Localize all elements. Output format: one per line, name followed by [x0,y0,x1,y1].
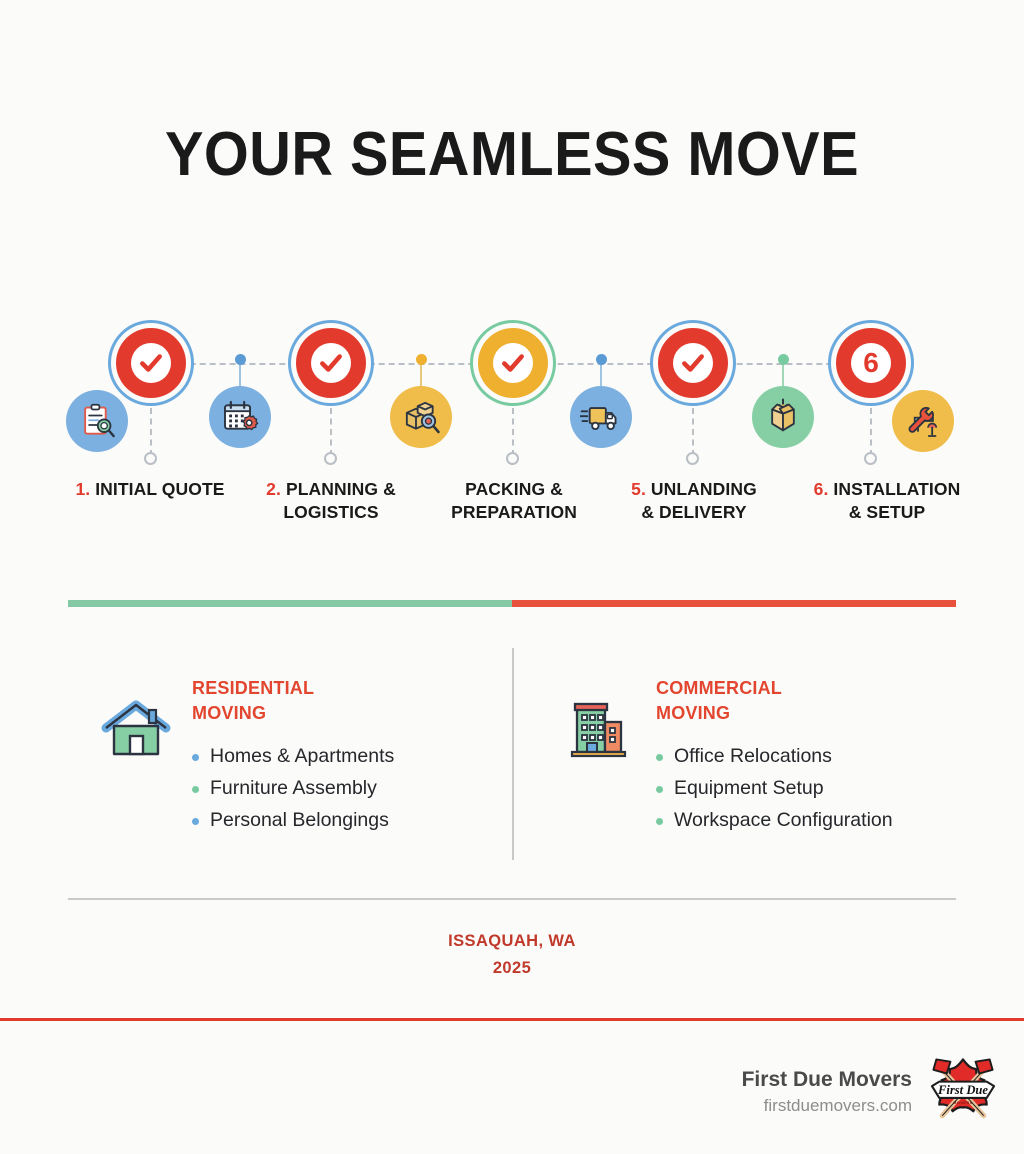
delivery-truck-icon [570,386,632,448]
bubble-5-dot [778,354,789,365]
clipboard-search-icon [66,390,128,452]
bubble-3-dot [416,354,427,365]
node-2-end-dot [324,452,337,465]
timeline-node-3[interactable] [470,300,556,386]
timeline-node-2[interactable] [288,300,374,386]
node-3-inner [493,343,533,383]
icon-bubble-clipboard-search[interactable] [66,390,128,452]
service-residential-list: Homes & Apartments Furniture Assembly Pe… [192,741,394,837]
node-5-end-dot [864,452,877,465]
list-item: Personal Belongings [192,805,394,837]
services-section: RESIDENTIAL MOVING Homes & Apartments Fu… [0,648,1024,878]
location-year: 2025 [493,959,531,977]
node-1-end-dot [144,452,157,465]
service-commercial: COMMERCIAL MOVING Office Relocations Equ… [560,676,980,837]
node-1-inner [131,343,171,383]
bubble-4-dot [596,354,607,365]
progress-segment-green [68,600,512,607]
infographic-page: YOUR SEAMLESS MOVE [0,0,1024,1154]
location-block: ISSAQUAH, WA 2025 [0,928,1024,981]
node-1-donut [116,328,186,398]
progress-segment-red [512,600,956,607]
service-commercial-body: COMMERCIAL MOVING Office Relocations Equ… [656,676,893,837]
node-5-number: 6 [863,349,879,377]
node-2-stem [330,408,332,456]
step-label-1-number: 1. [75,479,90,499]
footer-company-name: First Due Movers [742,1066,912,1094]
node-4-end-dot [686,452,699,465]
step-label-1-line1: INITIAL QUOTE [95,479,224,499]
step-label-3-line2: PREPARATION [451,502,577,522]
step-label-4-number: 5. [631,479,646,499]
step-label-4-line1: UNLANDING [651,479,757,499]
service-commercial-title-line2: MOVING [656,703,730,723]
list-item: Furniture Assembly [192,773,394,805]
page-title: YOUR SEAMLESS MOVE [36,124,988,186]
box-magnifier-icon [390,386,452,448]
step-label-5: 6. INSTALLATION & SETUP [778,478,996,525]
list-item: Homes & Apartments [192,741,394,773]
service-residential-title: RESIDENTIAL MOVING [192,676,394,726]
timeline-node-1[interactable] [108,300,194,386]
check-icon [318,350,344,376]
node-2-donut [296,328,366,398]
node-3-end-dot [506,452,519,465]
icon-bubble-delivery-truck[interactable] [570,386,632,448]
node-1-stem [150,408,152,456]
location-divider [68,898,956,900]
service-commercial-title-line1: COMMERCIAL [656,678,782,698]
footer: First Due Movers firstduemovers.com Firs… [742,1055,1000,1129]
node-5-inner: 6 [851,343,891,383]
open-box-icon [752,386,814,448]
services-divider [512,648,514,860]
service-residential-body: RESIDENTIAL MOVING Homes & Apartments Fu… [192,676,394,837]
step-label-2-number: 2. [266,479,281,499]
progress-bar [68,600,956,607]
svg-text:MOVERS: MOVERS [953,1101,973,1105]
step-label-4-line2: & DELIVERY [641,502,746,522]
bubble-2-dot [235,354,246,365]
timeline-node-5[interactable]: 6 [828,300,914,386]
wrench-desk-icon [892,390,954,452]
svg-text:First Due: First Due [937,1083,988,1097]
service-residential-title-line1: RESIDENTIAL [192,678,314,698]
list-item: Equipment Setup [656,773,893,805]
icon-bubble-calendar-gear[interactable] [209,386,271,448]
node-2-inner [311,343,351,383]
footer-text: First Due Movers firstduemovers.com [742,1066,912,1117]
step-label-2-line1: PLANNING & [286,479,396,499]
house-icon [96,676,176,756]
step-label-2-line2: LOGISTICS [283,502,378,522]
check-icon [500,350,526,376]
node-3-stem [512,408,514,456]
timeline-node-4[interactable] [650,300,736,386]
step-label-3-line1: PACKING & [465,479,563,499]
step-label-5-line2: & SETUP [849,502,926,522]
calendar-gear-icon [209,386,271,448]
step-label-3: PACKING & PREPARATION [408,478,620,525]
step-label-5-line1: INSTALLATION [833,479,960,499]
first-due-movers-logo: First Due MOVERS [926,1055,1000,1129]
node-4-donut [658,328,728,398]
office-building-icon [560,676,640,756]
icon-bubble-box-magnifier[interactable] [390,386,452,448]
node-4-stem [692,408,694,456]
service-residential-title-line2: MOVING [192,703,266,723]
location-city: ISSAQUAH, WA [448,932,576,950]
service-commercial-list: Office Relocations Equipment Setup Works… [656,741,893,837]
node-3-donut [478,328,548,398]
check-icon [138,350,164,376]
timeline-step-labels: 1. INITIAL QUOTE 2. PLANNING & LOGISTICS… [0,478,1024,548]
icon-bubble-open-box[interactable] [752,386,814,448]
list-item: Workspace Configuration [656,805,893,837]
icon-bubble-wrench-desk[interactable] [892,390,954,452]
node-4-inner [673,343,713,383]
node-5-stem [870,408,872,456]
footer-website[interactable]: firstduemovers.com [742,1095,912,1118]
step-label-4: 5. UNLANDING & DELIVERY [598,478,790,525]
list-item: Office Relocations [656,741,893,773]
service-residential: RESIDENTIAL MOVING Homes & Apartments Fu… [96,676,496,837]
service-commercial-title: COMMERCIAL MOVING [656,676,893,726]
footer-divider [0,1018,1024,1021]
check-icon [680,350,706,376]
step-label-5-number: 6. [814,479,829,499]
node-5-donut: 6 [836,328,906,398]
